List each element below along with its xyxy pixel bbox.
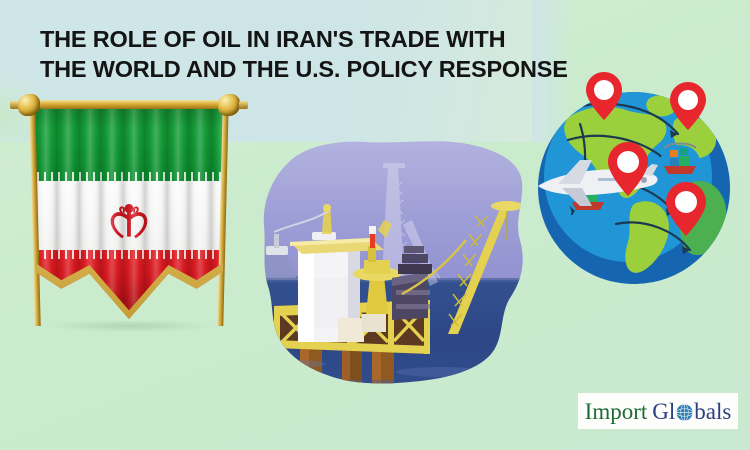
iran-emblem-icon <box>102 200 156 250</box>
flag-takbir-bottom <box>35 250 223 259</box>
page-title: THE ROLE OF OIL IN IRAN'S TRADE WITH THE… <box>40 24 550 84</box>
crane-top-platform <box>491 201 523 211</box>
oil-rig-illustration <box>252 128 544 412</box>
import-globals-logo[interactable]: Import Gl bals <box>578 393 738 429</box>
title-line-2: THE WORLD AND THE U.S. POLICY RESPONSE <box>40 54 550 84</box>
flag-shadow <box>46 320 216 332</box>
flag-finial-left-icon <box>14 94 44 116</box>
world-trade-globe <box>528 72 748 294</box>
logo-word-import: Import <box>585 400 648 423</box>
flag-cloth <box>35 103 223 319</box>
oil-rig-svg <box>252 128 544 412</box>
flag-stripe-green <box>35 103 223 181</box>
flag-stripe-red <box>35 250 223 319</box>
rig-scene <box>252 128 544 412</box>
rig-foam <box>252 367 278 377</box>
flag-takbir-top <box>35 172 223 181</box>
rig-legs <box>300 346 394 412</box>
flag-pole-bar <box>38 100 220 109</box>
logo-bals-letters: bals <box>694 399 731 424</box>
logo-word-globals: Gl bals <box>652 400 731 423</box>
banner-image: THE ROLE OF OIL IN IRAN'S TRADE WITH THE… <box>0 0 750 450</box>
globe-svg <box>528 72 748 294</box>
flag-finial-right-icon <box>214 94 244 116</box>
globe-swoosh-icon <box>675 403 694 422</box>
title-line-1: THE ROLE OF OIL IN IRAN'S TRADE WITH <box>40 24 550 54</box>
logo-gl-letters: Gl <box>652 399 675 424</box>
iran-flag <box>16 92 242 336</box>
